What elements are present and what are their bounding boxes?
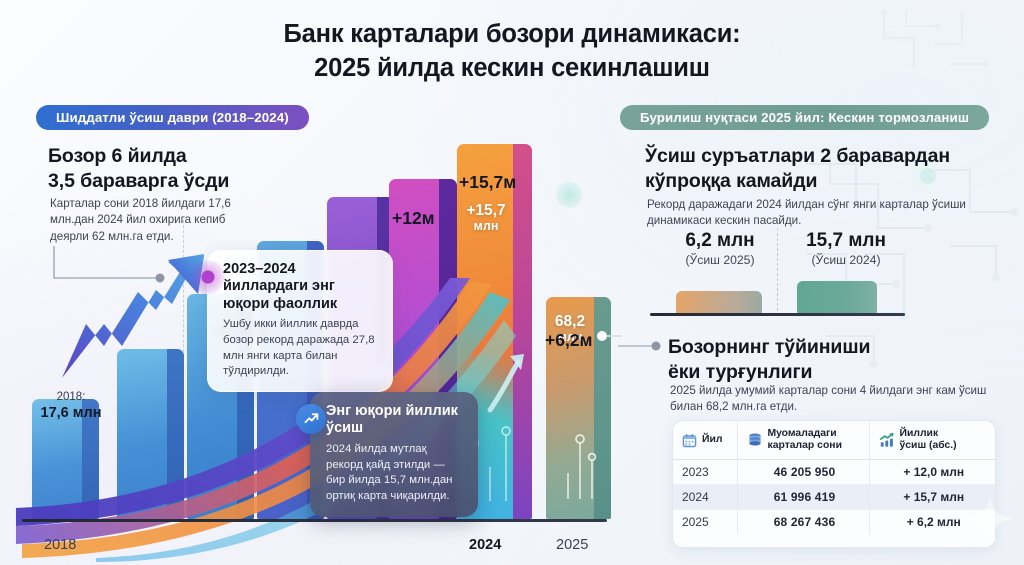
- right-body2-text: 2025 йилда умумий карталар сони 4 йилдаг…: [670, 383, 990, 416]
- annotation-2018-value: 17,6 млн: [16, 404, 126, 422]
- sparkle-icon: [962, 491, 1018, 547]
- right-body-text: Рекорд даражадаги 2024 йилдан сўнг янги …: [647, 197, 979, 230]
- table-header-year: Йил: [673, 421, 737, 460]
- table-header-year-label: Йил: [702, 434, 722, 446]
- stat-growth-2024: 15,7 млн (Ўсиш 2024): [785, 231, 907, 267]
- table-row: 2023 46 205 950 + 12,0 млн: [673, 460, 995, 485]
- callout-peak-activity-body: Ушбу икки йиллик даврда бозор рекорд дар…: [223, 317, 379, 380]
- mini-bar-2025: [676, 291, 762, 313]
- trend-up-arrow-icon: [296, 404, 326, 434]
- axis-label-2018: 2018: [44, 537, 76, 553]
- table-header-growth-label: Йиллик ўсиш (абс.): [900, 428, 957, 452]
- table-header-row: Йил Му: [673, 421, 995, 460]
- infographic-canvas: Банк карталари бозори динамикаси: 2025 й…: [0, 0, 1024, 565]
- table-cell-year: 2023: [673, 460, 737, 485]
- growth-label-2025: +6,2м: [545, 330, 593, 351]
- stat-growth-2025: 6,2 млн (Ўсиш 2025): [664, 231, 776, 267]
- table-row: 2025 68 267 436 + 6,2 млн: [673, 510, 995, 535]
- stat-divider: [777, 228, 778, 316]
- axis-label-2025: 2025: [556, 537, 588, 553]
- bar-chart-trend-icon: [879, 432, 895, 448]
- table-cell-cards: 46 205 950: [737, 460, 869, 485]
- table-row: 2024 61 996 419 + 15,7 млн: [673, 485, 995, 510]
- table-header-cards-label: Муомаладаги карталар сони: [768, 428, 842, 452]
- mini-chart-baseline: [650, 313, 905, 316]
- bar-2019: [117, 349, 184, 519]
- table-cell-cards: 61 996 419: [737, 485, 869, 510]
- cards-stats-table: Йил Му: [672, 420, 996, 548]
- right-heading-line1: Ўсиш суръатлари 2 баравардан: [645, 144, 995, 169]
- annotation-2018-label: 2018:: [57, 391, 86, 403]
- callout-max-growth-body: 2024 йилда мутлақ рекорд қайд этилди — б…: [326, 442, 464, 505]
- leader-line-right: [618, 338, 666, 354]
- table-cell-growth: + 12,0 млн: [869, 460, 995, 485]
- purple-dot-icon: [191, 260, 225, 294]
- right-section-pill: Бурилиш нуқтаси 2025 йил: Кескин тормозл…: [620, 105, 989, 130]
- table-cell-year: 2025: [673, 510, 737, 535]
- left-section-pill: Шиддатли ўсиш даври (2018–2024): [36, 105, 309, 130]
- right-heading2: Бозорнинг тўйиниши ёки турғунлиги: [668, 335, 1008, 385]
- stat-growth-2024-label: (Ўсиш 2024): [785, 253, 907, 267]
- table-header-growth: Йиллик ўсиш (абс.): [869, 421, 995, 460]
- bar-2025-circuit-icon: [560, 403, 604, 503]
- annotation-2018: 2018: 17,6 млн: [16, 390, 126, 423]
- coins-stack-icon: [747, 432, 763, 448]
- page-title-line2: 2025 йилда кескин секинлашиш: [0, 52, 1024, 86]
- growth-label-2024: +15,7м: [459, 172, 516, 193]
- bar-2024-value-label: +15,7млн: [459, 202, 513, 233]
- table-header-cards: Муомаладаги карталар сони: [737, 421, 869, 460]
- calendar-icon: [682, 433, 697, 448]
- page-title-line1: Банк карталари бозори динамикаси:: [0, 18, 1024, 52]
- callout-max-growth-title: Энг юқори йиллик ўсиш: [326, 403, 464, 438]
- table-cell-year: 2024: [673, 485, 737, 510]
- mini-bar-2024: [797, 281, 877, 313]
- right-heading-line2: кўпроққа камайди: [645, 169, 995, 194]
- axis-label-2024: 2024: [469, 537, 501, 553]
- right-heading: Ўсиш суръатлари 2 баравардан кўпроққа ка…: [645, 144, 995, 194]
- stat-growth-2025-value: 6,2 млн: [664, 231, 776, 252]
- stat-growth-2024-value: 15,7 млн: [785, 231, 907, 252]
- chart-baseline: [22, 519, 607, 522]
- stat-growth-2025-label: (Ўсиш 2025): [664, 253, 776, 267]
- right-heading2-line1: Бозорнинг тўйиниши: [668, 335, 1008, 360]
- page-title: Банк карталари бозори динамикаси: 2025 й…: [0, 18, 1024, 86]
- right-heading2-line2: ёки турғунлиги: [668, 360, 1008, 385]
- table-cell-cards: 68 267 436: [737, 510, 869, 535]
- callout-max-growth: Энг юқори йиллик ўсиш 2024 йилда мутлақ …: [310, 392, 478, 517]
- callout-peak-activity-title: 2023–2024 йиллардаги энг юқори фаоллик: [223, 261, 379, 313]
- callout-peak-activity: 2023–2024 йиллардаги энг юқори фаоллик У…: [207, 250, 393, 392]
- growth-label-2023: +12м: [392, 208, 435, 229]
